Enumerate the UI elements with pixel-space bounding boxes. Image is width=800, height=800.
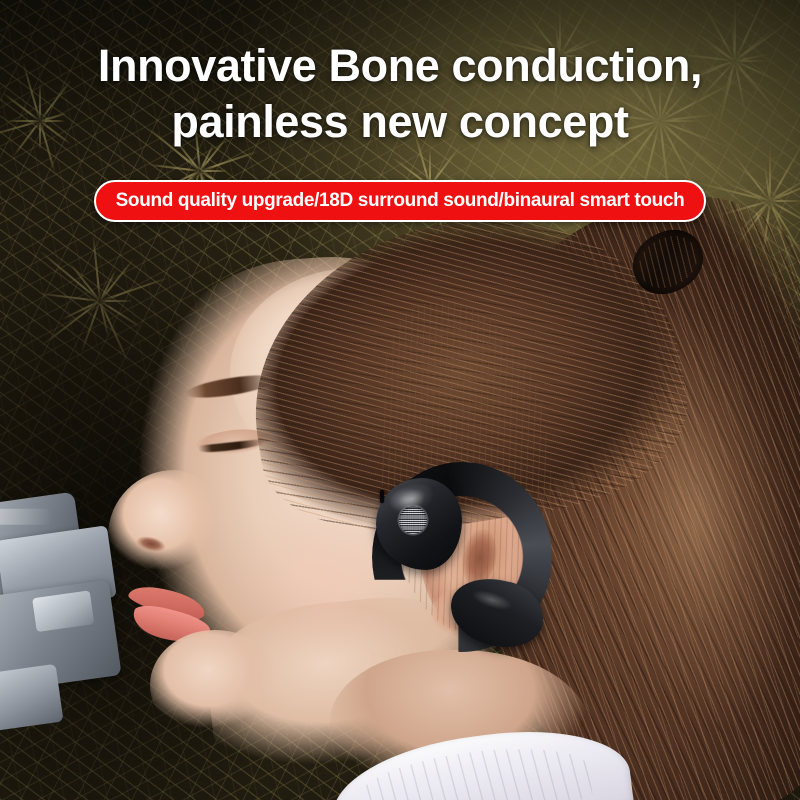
bone-conduction-earbud	[372, 462, 552, 652]
feature-banner-wrap: Sound quality upgrade/18D surround sound…	[0, 180, 800, 222]
gadget-part-5	[0, 664, 64, 732]
earbud-speaker-grille-icon	[399, 506, 427, 534]
poster-headline: Innovative Bone conduction, painless new…	[0, 38, 800, 150]
earbud-mic-slot	[380, 490, 384, 503]
feature-banner: Sound quality upgrade/18D surround sound…	[94, 180, 707, 222]
headline-line-2: painless new concept	[28, 94, 772, 150]
gadget-highlight	[0, 509, 53, 525]
product-poster: Innovative Bone conduction, painless new…	[0, 0, 800, 800]
headline-line-1: Innovative Bone conduction,	[98, 40, 702, 91]
chin	[150, 630, 280, 740]
